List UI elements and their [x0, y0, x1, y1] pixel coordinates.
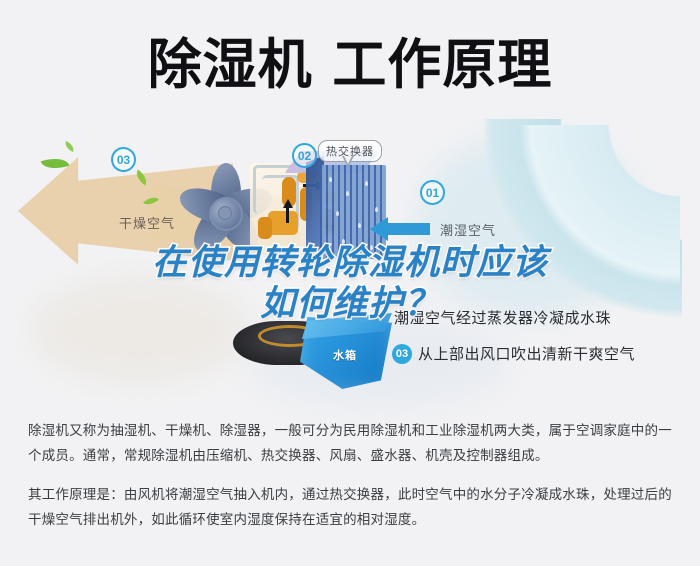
body-paragraph-1: 除湿机又称为抽湿机、干燥机、除湿器，一般可分为民用除湿机和工业除湿机两大类，属于…: [28, 418, 674, 468]
copper-coil: [268, 211, 298, 235]
caption-step-03: 从上部出风口吹出清新干爽空气: [418, 343, 635, 364]
step-badge-01: 01: [420, 180, 445, 205]
caption-badge-03: 03: [392, 344, 412, 364]
caption-step-02: 潮湿空气经过蒸发器冷凝成水珠: [394, 307, 611, 328]
flow-arrow-up-icon: [283, 199, 293, 208]
dehumidifier-diagram: 水箱 01 02 03 潮湿空气 干燥空气 热交换器: [0, 125, 700, 410]
body-paragraph-2: 其工作原理是：由风机将潮湿空气抽入机内，通过热交换器，此时空气中的水分子冷凝成水…: [28, 482, 674, 532]
water-droplet-icon: [358, 223, 361, 228]
water-droplet-icon: [365, 181, 368, 186]
water-tank-label: 水箱: [333, 347, 357, 363]
water-droplet-icon: [329, 177, 332, 182]
fan-hub-center: [218, 206, 232, 220]
dry-air-label: 干燥空气: [119, 213, 175, 232]
air-inlet-arrow-icon: [370, 217, 388, 241]
ambient-blob-beige: [30, 275, 250, 385]
air-inlet-arrow-shaft: [384, 223, 430, 235]
callout-pointer-inner: [344, 156, 352, 164]
water-droplet-icon: [342, 239, 345, 244]
step-badge-03: 03: [111, 147, 136, 172]
water-droplet-icon: [346, 191, 349, 196]
water-droplet-icon: [336, 211, 339, 216]
water-droplet-icon: [370, 245, 373, 250]
leaf-icon: [63, 141, 76, 152]
infographic-page: 除湿机 工作原理: [0, 0, 700, 566]
page-title: 除湿机 工作原理: [148, 38, 553, 92]
humid-air-label: 潮湿空气: [440, 220, 496, 239]
step-badge-02: 02: [292, 143, 317, 168]
flow-arrow-up-shaft: [286, 207, 289, 223]
copper-coil: [258, 217, 272, 239]
page-header: 除湿机 工作原理: [0, 0, 700, 130]
water-droplet-icon: [375, 207, 378, 212]
heat-exchanger-fins: [320, 165, 386, 259]
